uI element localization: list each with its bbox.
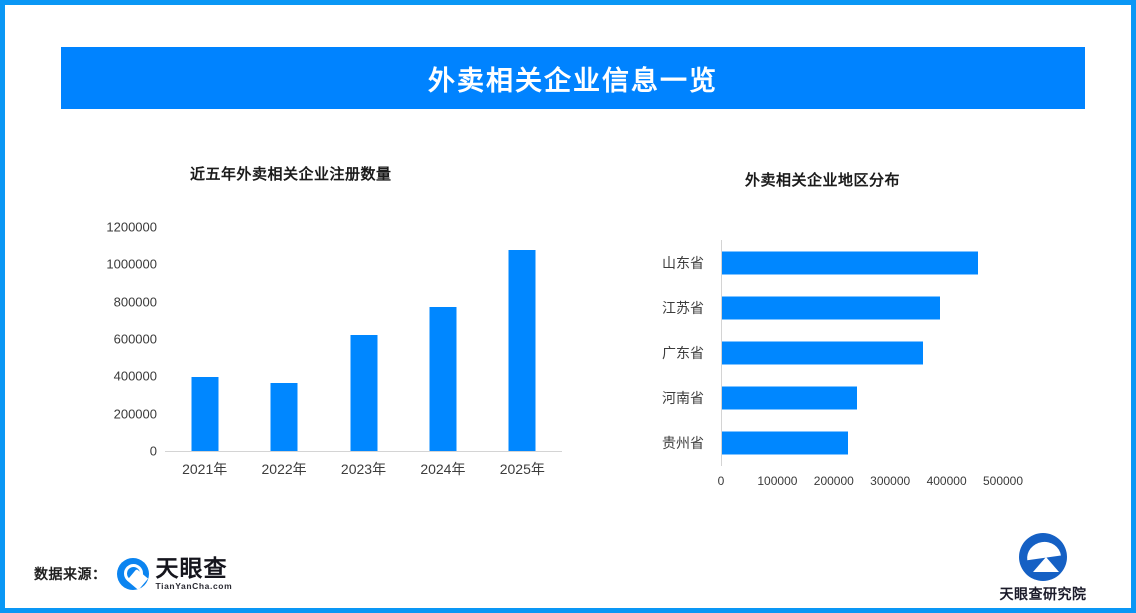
x-axis-tick-label: 300000 [870,474,910,488]
bar [429,307,456,451]
y-axis-tick-label: 600000 [114,332,157,347]
chart-registrations-by-year: 近五年外卖相关企业注册数量 02000004000006000008000001… [61,145,601,515]
chart-regional-distribution: 外卖相关企业地区分布 山东省江苏省广东省河南省贵州省 0100000200000… [625,145,1085,515]
research-institute-brand: 天眼查研究院 [983,533,1103,604]
tianyancha-name-cn: 天眼查 [156,557,233,580]
x-axis-baseline [165,451,562,452]
x-axis-category-label: 2025年 [500,459,545,479]
x-axis-category-labels: 2021年2022年2023年2024年2025年 [165,459,562,489]
vertical-bar-plot-area: 020000040000060000080000010000001200000 … [165,227,565,461]
x-axis-category-label: 2022年 [262,459,307,479]
y-axis-category-label: 江苏省 [662,298,704,318]
y-axis-category-label: 山东省 [662,253,704,273]
y-axis-tick-label: 800000 [114,294,157,309]
data-source-label: 数据来源： [34,564,107,584]
x-axis-tick-label: 100000 [757,474,797,488]
tianyancha-logo: 天眼查 TianYanCha.com [117,557,233,591]
x-axis-category-label: 2023年 [341,459,386,479]
bar [722,432,848,455]
bar [509,250,536,451]
vertical-bars [165,227,562,451]
y-axis-tick-label: 0 [150,444,157,459]
bar [722,296,940,319]
x-axis-tick-label: 200000 [814,474,854,488]
bar [722,251,978,274]
x-axis-tick-label: 500000 [983,474,1023,488]
y-axis-category-label: 贵州省 [662,433,704,453]
logo-roof-shape [1033,557,1059,572]
data-source: 数据来源： 天眼查 TianYanCha.com [34,557,232,591]
bar [271,383,298,451]
x-axis-category-label: 2024年 [420,459,465,479]
header-banner: 外卖相关企业信息一览 [61,47,1085,109]
infographic-page: 外卖相关企业信息一览 近五年外卖相关企业注册数量 020000040000060… [0,0,1136,613]
y-axis-tick-label: 1000000 [106,257,157,272]
bar [722,342,923,365]
y-axis-category-label: 河南省 [662,388,704,408]
horizontal-bars: 山东省江苏省广东省河南省贵州省 [721,240,1011,466]
x-axis-tick-label: 0 [718,474,725,488]
research-institute-logo-icon [1019,533,1067,581]
research-institute-name: 天眼查研究院 [1000,584,1087,604]
x-axis-category-label: 2021年 [182,459,227,479]
y-axis-category-label: 广东省 [662,343,704,363]
bar [722,387,857,410]
y-axis-tick-label: 1200000 [106,220,157,235]
horizontal-bar-plot-area: 山东省江苏省广东省河南省贵州省 010000020000030000040000… [721,240,1011,480]
y-axis-tick-label: 200000 [114,406,157,421]
x-axis-tick-labels: 0100000200000300000400000500000 [721,474,1011,498]
bar [350,335,377,451]
tianyancha-wordmark: 天眼查 TianYanCha.com [156,557,233,591]
bar [191,377,218,451]
tianyancha-mark-icon [117,558,149,590]
chart-title-left: 近五年外卖相关企业注册数量 [190,163,392,184]
y-axis-tick-label: 400000 [114,369,157,384]
y-axis-tick-labels: 020000040000060000080000010000001200000 [65,227,157,451]
x-axis-tick-label: 400000 [927,474,967,488]
chart-title-right: 外卖相关企业地区分布 [745,169,900,190]
tianyancha-name-en: TianYanCha.com [156,582,233,591]
page-title: 外卖相关企业信息一览 [428,59,718,98]
